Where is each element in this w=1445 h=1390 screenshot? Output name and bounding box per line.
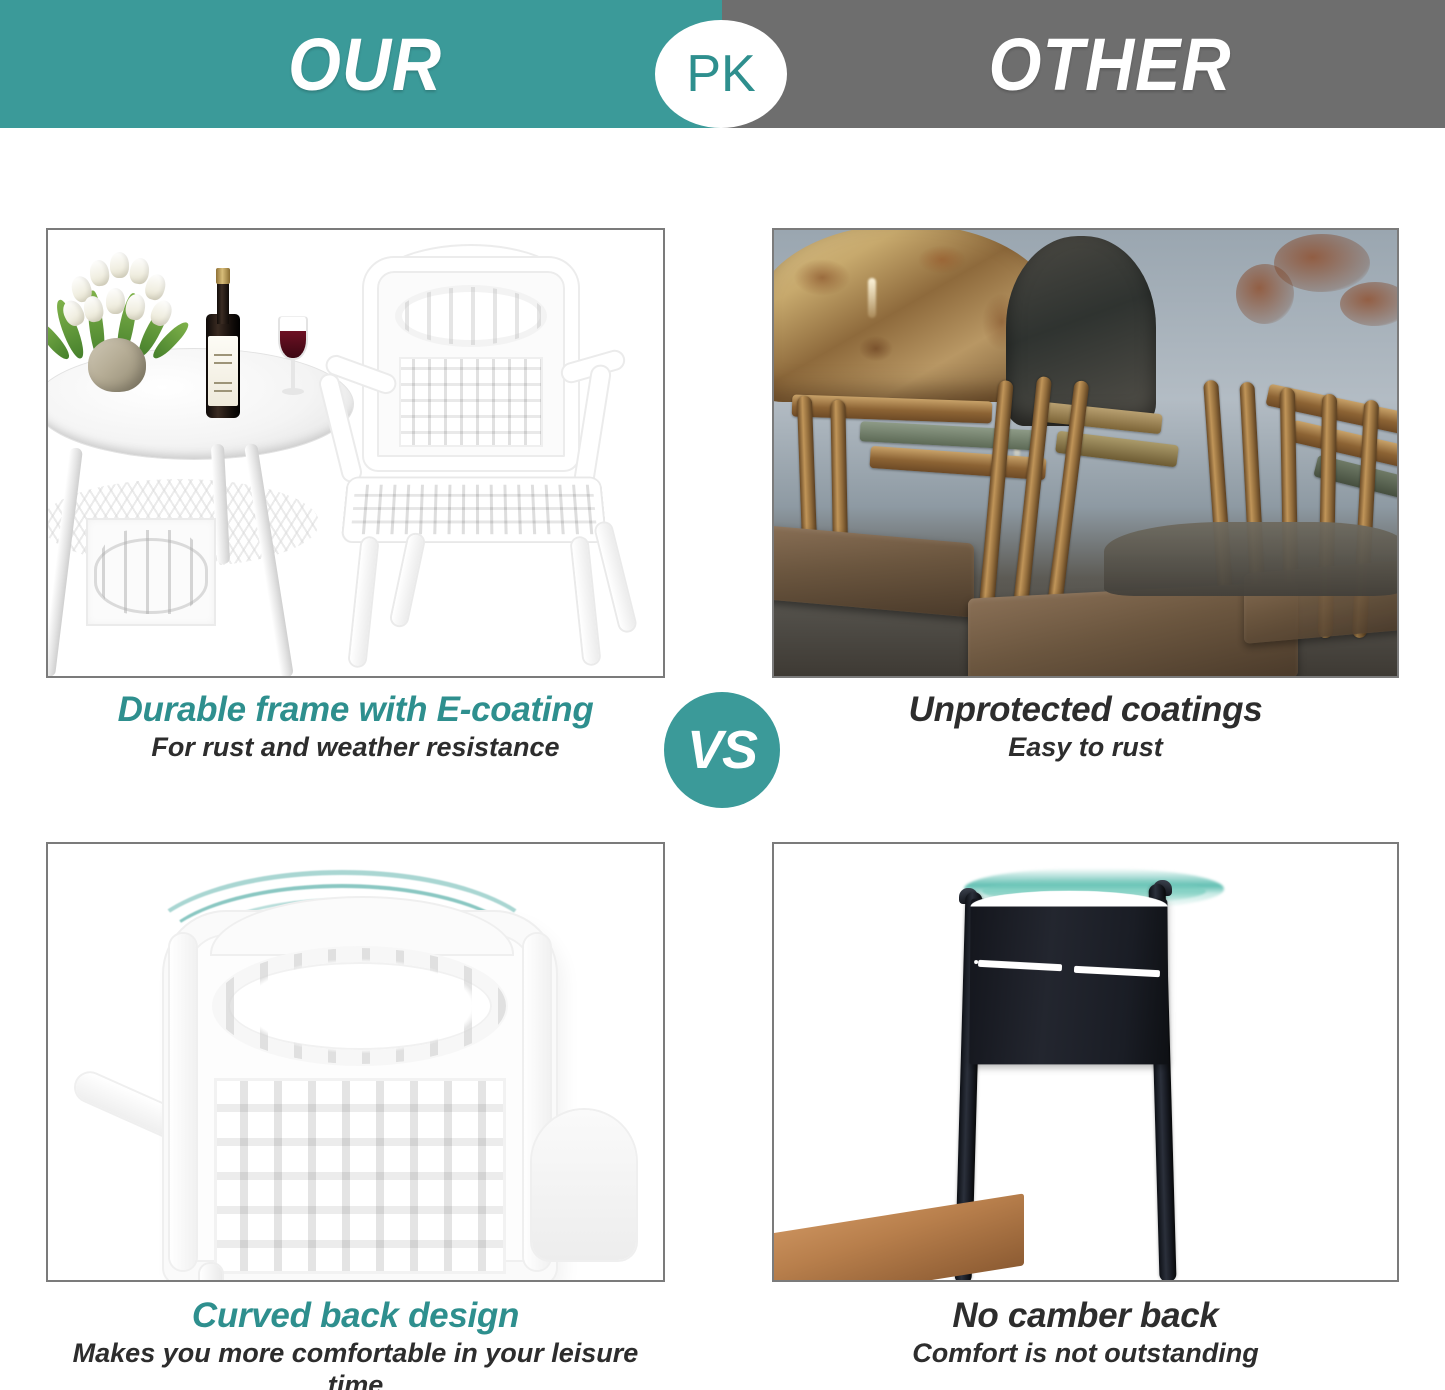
other-flat-back-photo-card	[772, 842, 1399, 1282]
caption-top-left: Durable frame with E-coating For rust an…	[46, 690, 665, 764]
dark-flat-back-image	[774, 844, 1397, 1280]
other-rust-photo-card	[772, 228, 1399, 678]
chair-leg-front-right	[571, 538, 599, 665]
comparison-infographic: OUR OTHER PK	[0, 0, 1445, 1390]
chair-arm-right	[532, 1110, 636, 1260]
wine-bottle	[206, 268, 240, 418]
header-our-label: OUR	[186, 0, 545, 128]
white-patio-set-image	[48, 230, 663, 676]
vs-badge: VS	[664, 692, 780, 808]
chair-backrest	[364, 258, 578, 470]
header-other-label: OTHER	[917, 0, 1303, 128]
caption-top-right: Unprotected coatings Easy to rust	[772, 690, 1399, 764]
chair-armrest-left	[319, 374, 362, 483]
backrest-slot-right	[1074, 966, 1160, 977]
chair-leg-front-left	[349, 538, 377, 667]
chair-scroll-ornament	[395, 285, 547, 347]
backrest-slot-left	[978, 960, 1062, 971]
wine-glass	[276, 316, 310, 402]
caption-title: No camber back	[772, 1296, 1399, 1335]
caption-title: Durable frame with E-coating	[46, 690, 665, 729]
chair-armrest-right	[575, 365, 611, 486]
wine-bottle-label	[208, 336, 238, 406]
white-ornate-chair	[316, 254, 652, 674]
caption-title: Curved back design	[46, 1296, 665, 1335]
caption-subtitle: Makes you more comfortable in your leisu…	[46, 1338, 665, 1390]
rusty-seat-left	[772, 524, 974, 617]
caption-bottom-left: Curved back design Makes you more comfor…	[46, 1296, 665, 1390]
pk-badge: PK	[655, 20, 787, 128]
wooden-seat	[772, 1193, 1024, 1282]
backrest-lattice	[214, 1078, 506, 1274]
header-bar: OUR OTHER PK	[0, 0, 1445, 128]
chair-seat-lattice	[343, 478, 605, 541]
rusty-chairs-image	[774, 230, 1397, 676]
stone-ledge	[1104, 522, 1399, 596]
caption-subtitle: Easy to rust	[772, 732, 1399, 764]
caption-subtitle: For rust and weather resistance	[46, 732, 665, 764]
heart-scroll-ornament	[212, 946, 508, 1066]
chair-back-leg	[200, 1264, 222, 1282]
flat-backrest-panel	[969, 899, 1168, 1065]
table-leg-left	[46, 447, 83, 677]
chair-back-lattice	[399, 357, 543, 447]
caption-bottom-right: No camber back Comfort is not outstandin…	[772, 1296, 1399, 1370]
caption-subtitle: Comfort is not outstanding	[772, 1338, 1399, 1370]
caption-title: Unprotected coatings	[772, 690, 1399, 729]
table-scroll-apron	[86, 518, 216, 626]
white-curved-back-image	[48, 844, 663, 1280]
flower-vase	[88, 338, 146, 392]
our-frame-photo-card	[46, 228, 665, 678]
our-curved-back-photo-card	[46, 842, 665, 1282]
curved-chair-back	[164, 912, 556, 1282]
